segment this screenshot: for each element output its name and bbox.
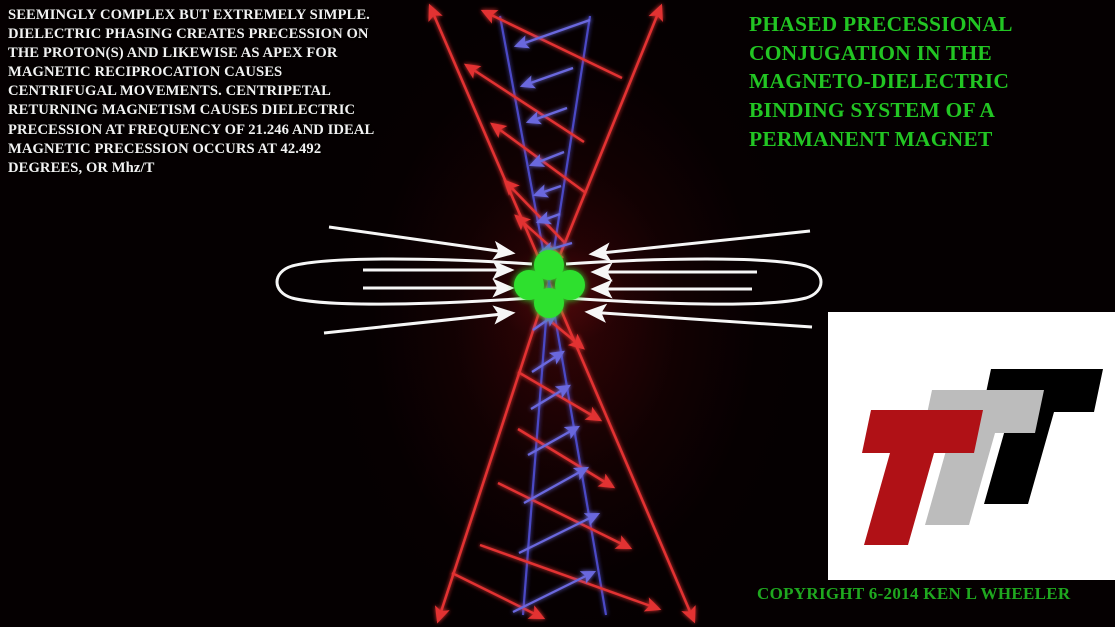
upper-blue-precession-arrows <box>516 20 590 252</box>
left-inflow-arrows <box>324 227 512 333</box>
caption-line: THE PROTON(S) AND LIKEWISE AS APEX FOR <box>8 44 438 63</box>
copyright-notice: COPYRIGHT 6-2014 KEN L WHEELER <box>757 584 1070 604</box>
caption-text: SEEMINGLY COMPLEX BUT EXTREMELY SIMPLE. … <box>8 6 438 178</box>
logo-letter-t-black <box>982 369 1103 504</box>
title-line: MAGNETO-DIELECTRIC <box>749 67 1109 96</box>
caption-line: CENTRIFUGAL MOVEMENTS. CENTRIPETAL <box>8 82 438 101</box>
caption-line: DIELECTRIC PHASING CREATES PRECESSION ON <box>8 25 438 44</box>
triple-t-logo <box>828 312 1115 580</box>
title-line: BINDING SYSTEM OF A <box>749 96 1109 125</box>
red-cone-lines <box>430 6 694 621</box>
caption-line: MAGNETIC RECIPROCATION CAUSES <box>8 63 438 82</box>
logo-graphic <box>828 312 1115 580</box>
caption-line: MAGNETIC PRECESSION OCCURS AT 42.492 <box>8 140 438 159</box>
caption-line: SEEMINGLY COMPLEX BUT EXTREMELY SIMPLE. <box>8 6 438 25</box>
caption-line: DEGREES, OR Mhz/T <box>8 159 438 178</box>
title-line: PERMANENT MAGNET <box>749 125 1109 154</box>
left-field-loop <box>277 259 532 304</box>
caption-line: PRECESSION AT FREQUENCY OF 21.246 AND ID… <box>8 121 438 140</box>
magnet-diagram-slide: SEEMINGLY COMPLEX BUT EXTREMELY SIMPLE. … <box>0 0 1115 627</box>
page-title: PHASED PRECESSIONAL CONJUGATION IN THE M… <box>749 10 1109 154</box>
right-field-loop <box>566 259 821 304</box>
right-inflow-arrows <box>588 231 812 327</box>
title-line: CONJUGATION IN THE <box>749 39 1109 68</box>
caption-line: RETURNING MAGNETISM CAUSES DIELECTRIC <box>8 101 438 120</box>
title-line: PHASED PRECESSIONAL <box>749 10 1109 39</box>
